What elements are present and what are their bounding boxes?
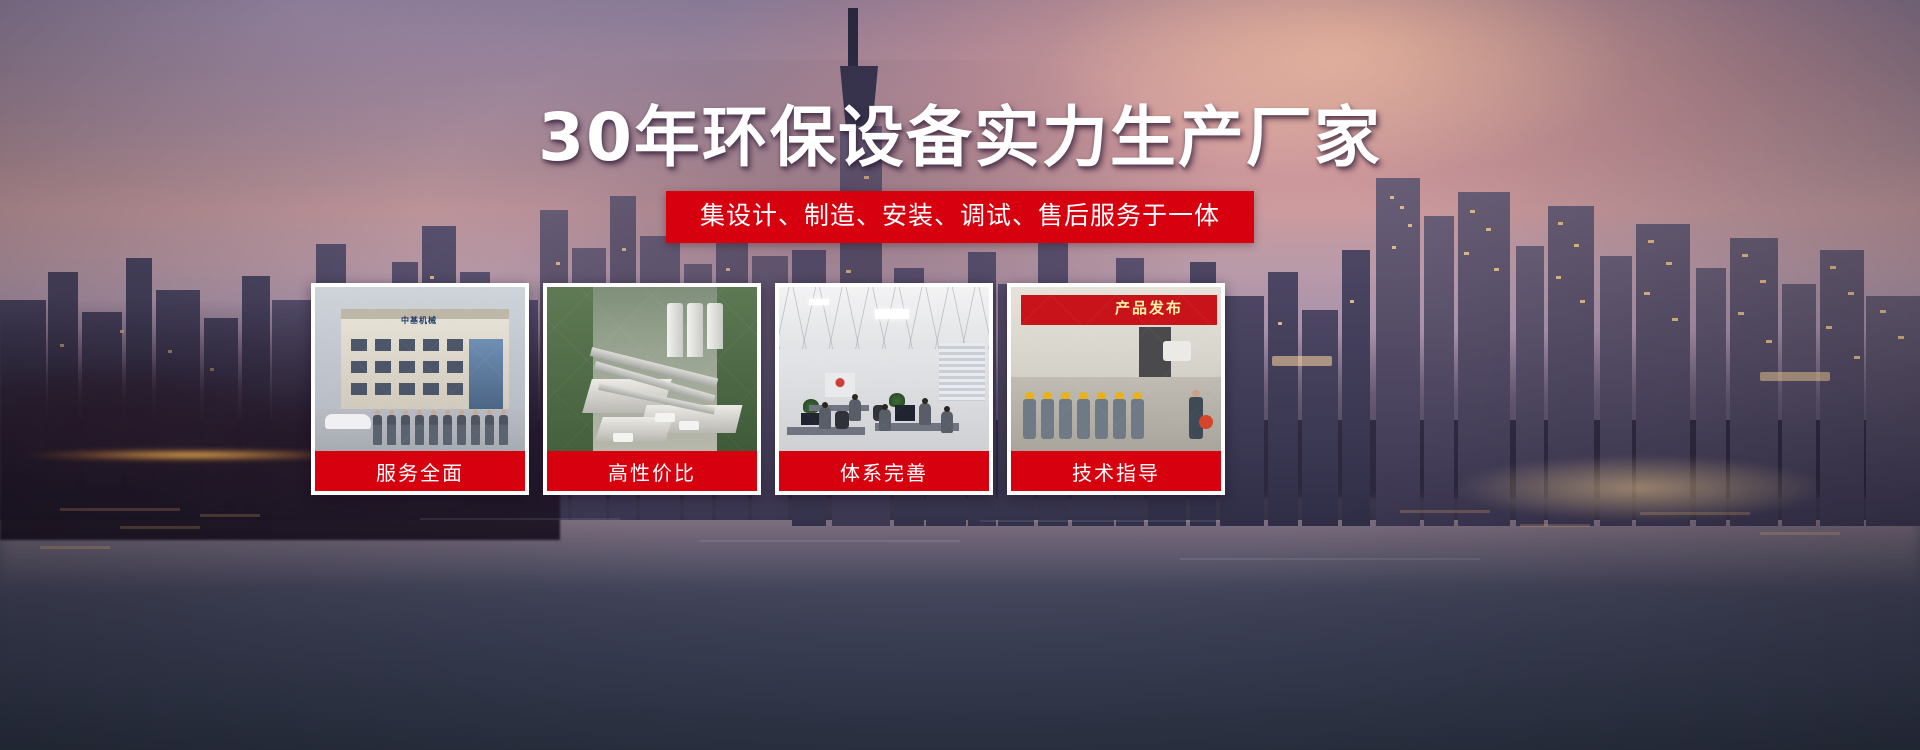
card-caption: 体系完善 <box>779 451 989 491</box>
card-caption: 技术指导 <box>1011 451 1221 491</box>
hero-banner: 30年环保设备实力生产厂家 集设计、制造、安装、调试、售后服务于一体 中基机械 <box>0 0 1920 750</box>
workshop-photo: 产品发布 专业品质 <box>1011 287 1221 451</box>
feature-card-list: 中基机械 <box>311 283 1561 495</box>
card-photo: 产品发布 专业品质 <box>1011 287 1221 451</box>
banner-subtitle-wrap: 集设计、制造、安装、调试、售后服务于一体 <box>0 191 1920 243</box>
company-building-photo: 中基机械 <box>315 287 525 451</box>
card-photo: 中基机械 <box>315 287 525 451</box>
glass-facade <box>469 339 503 417</box>
feature-card[interactable]: 高性价比 <box>543 283 761 495</box>
white-car <box>325 414 371 429</box>
aerial-factory-photo <box>547 287 757 451</box>
card-caption: 服务全面 <box>315 451 525 491</box>
window-blinds <box>939 343 985 401</box>
feature-card[interactable]: 体系完善 <box>775 283 993 495</box>
workshop-banner-text: 产品发布 <box>1115 297 1183 318</box>
white-van <box>1163 341 1191 361</box>
feature-card[interactable]: 中基机械 <box>311 283 529 495</box>
office-interior-photo <box>779 287 989 451</box>
banner-subtitle-badge: 集设计、制造、安装、调试、售后服务于一体 <box>666 191 1254 243</box>
banner-content: 30年环保设备实力生产厂家 集设计、制造、安装、调试、售后服务于一体 中基机械 <box>0 0 1920 750</box>
card-caption: 高性价比 <box>547 451 757 491</box>
office-building: 中基机械 <box>341 309 509 415</box>
feature-card[interactable]: 产品发布 专业品质 <box>1007 283 1225 495</box>
cable-reel <box>1199 415 1213 429</box>
card-photo <box>779 287 989 451</box>
building-sign-text: 中基机械 <box>401 315 437 326</box>
card-photo <box>547 287 757 451</box>
banner-headline: 30年环保设备实力生产厂家 <box>0 103 1920 173</box>
wall-decal <box>825 373 855 397</box>
